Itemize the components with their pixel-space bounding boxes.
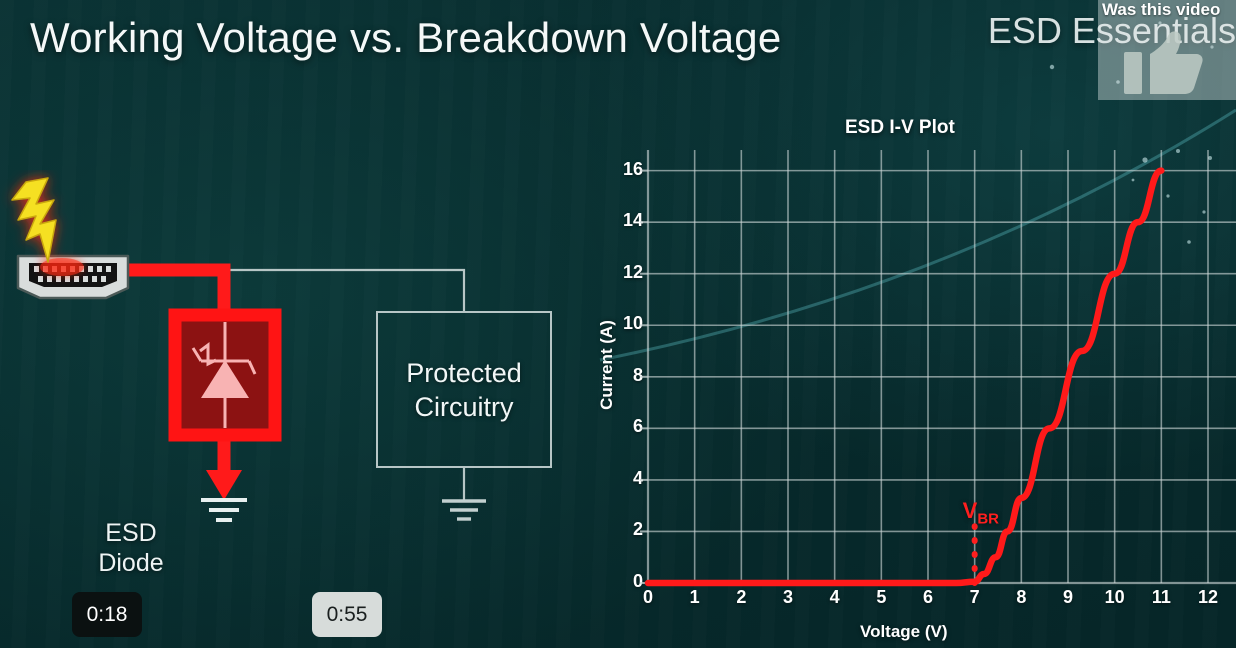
protected-circuitry-box: Protected Circuitry xyxy=(376,311,552,468)
esd-diode-label-line2: Diode xyxy=(88,548,174,578)
protected-circuitry-label: Protected Circuitry xyxy=(406,356,522,424)
vbr-sublabel: BR xyxy=(977,511,999,528)
current-time-badge[interactable]: 0:18 xyxy=(72,592,142,637)
thumbs-up-icon[interactable] xyxy=(1124,30,1204,96)
page-title: Working Voltage vs. Breakdown Voltage xyxy=(30,14,781,62)
current-flow-arrow xyxy=(206,470,242,500)
chart-plot-area xyxy=(575,105,1236,648)
esd-diode-label: ESD Diode xyxy=(88,518,174,578)
vbr-label: V xyxy=(963,498,978,523)
slide-canvas: Working Voltage vs. Breakdown Voltage ES… xyxy=(0,0,1236,648)
video-feedback-overlay[interactable]: Was this video xyxy=(1098,0,1236,100)
protected-label-line2: Circuitry xyxy=(406,390,522,424)
total-time-badge[interactable]: 0:55 xyxy=(312,592,382,637)
esd-diode-label-line1: ESD xyxy=(88,518,174,548)
esd-ground-symbol xyxy=(201,500,247,520)
hdmi-connector-icon xyxy=(18,256,128,298)
esd-iv-chart: ESD I-V Plot Current (A) Voltage (V) 024… xyxy=(575,105,1236,648)
protected-ground-symbol xyxy=(442,501,486,519)
lightning-bolt-icon xyxy=(12,178,56,262)
esd-diode-component[interactable] xyxy=(175,315,275,435)
feedback-prompt-text: Was this video xyxy=(1102,0,1236,20)
breakdown-voltage-annotation: VBR xyxy=(963,498,999,527)
protected-label-line1: Protected xyxy=(406,356,522,390)
